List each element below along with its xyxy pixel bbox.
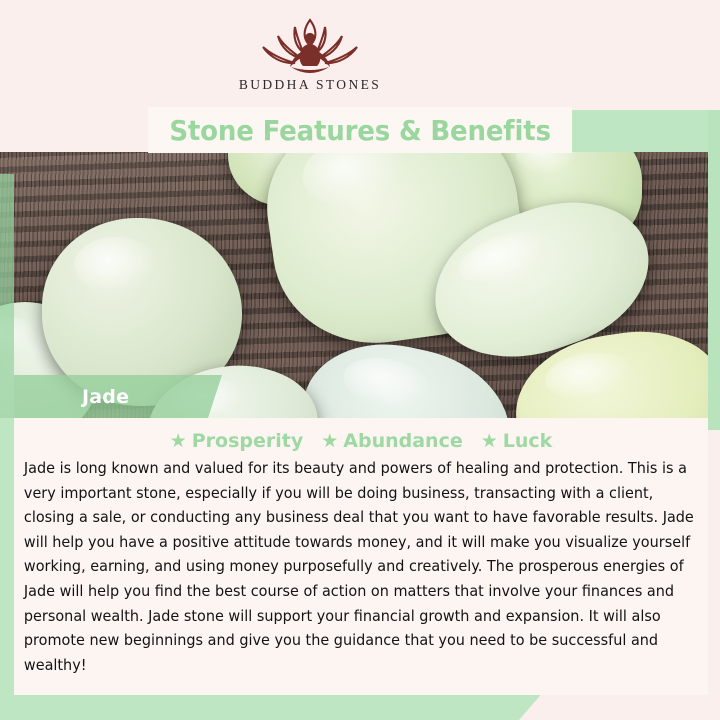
benefits-row: ★ Prosperity ★ Abundance ★ Luck <box>22 430 700 452</box>
benefit-item-prosperity: ★ Prosperity <box>170 430 304 452</box>
brand-block: BUDDHA STONES <box>0 0 620 110</box>
star-icon: ★ <box>170 432 187 451</box>
star-icon: ★ <box>321 432 338 451</box>
benefit-label: Prosperity <box>192 430 304 452</box>
stone-description: Jade is long known and valued for its be… <box>22 456 695 677</box>
poster-root: BUDDHA STONES Stone Features & Benefits … <box>0 0 720 720</box>
title-banner: Stone Features & Benefits <box>148 107 572 153</box>
star-icon: ★ <box>481 432 498 451</box>
benefit-label: Abundance <box>343 430 462 452</box>
stone-name-label: Jade <box>82 386 129 408</box>
page-title: Stone Features & Benefits <box>169 114 550 147</box>
decoration-left-strip-lower <box>0 408 14 690</box>
benefit-label: Luck <box>503 430 553 452</box>
brand-name: BUDDHA STONES <box>239 77 381 93</box>
header: BUDDHA STONES <box>0 0 720 110</box>
benefit-item-abundance: ★ Abundance <box>321 430 463 452</box>
content-panel: ★ Prosperity ★ Abundance ★ Luck Jade is … <box>14 418 708 695</box>
decoration-photo-left-veil <box>0 174 14 418</box>
stone-name-band: Jade <box>14 375 222 418</box>
lotus-meditation-icon <box>251 14 369 76</box>
benefit-item-luck: ★ Luck <box>481 430 553 452</box>
